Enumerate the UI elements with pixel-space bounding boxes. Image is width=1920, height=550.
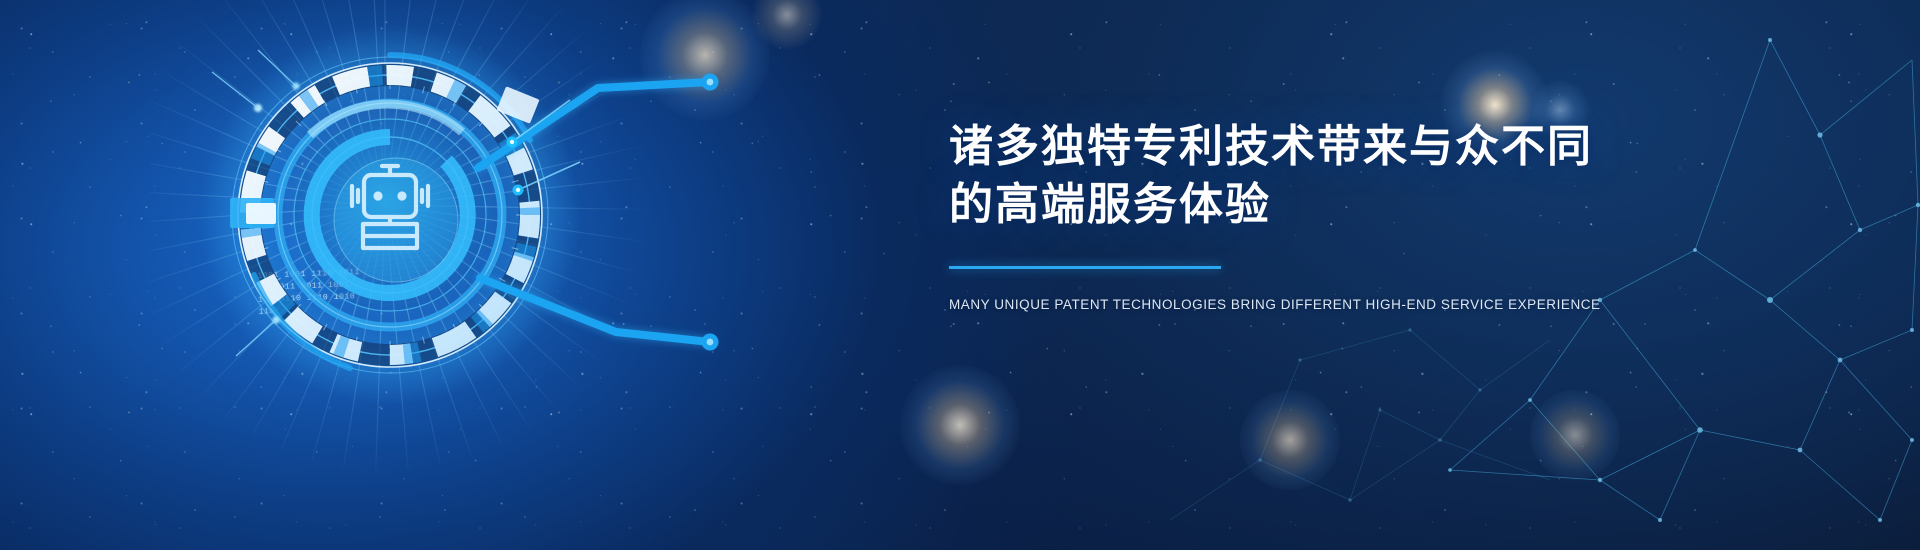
star-flare-2 xyxy=(640,0,770,120)
subtitle: MANY UNIQUE PATENT TECHNOLOGIES BRING DI… xyxy=(949,297,1769,312)
headline-divider xyxy=(949,266,1221,269)
star-flare-7 xyxy=(752,0,822,50)
headline: 诸多独特专利技术带来与众不同 的高端服务体验 xyxy=(949,118,1769,234)
star-flare-5 xyxy=(1530,390,1620,480)
hero-text-block: 诸多独特专利技术带来与众不同 的高端服务体验 MANY UNIQUE PATEN… xyxy=(949,118,1769,326)
network-mesh-lower xyxy=(1150,300,1570,550)
star-flare-3 xyxy=(900,365,1020,485)
circular-tech-hud xyxy=(200,20,600,420)
star-flare-4 xyxy=(1240,390,1340,490)
hero-banner: 1001 1001 1110 0011 11 1011 0011 1001 11… xyxy=(0,0,1920,550)
